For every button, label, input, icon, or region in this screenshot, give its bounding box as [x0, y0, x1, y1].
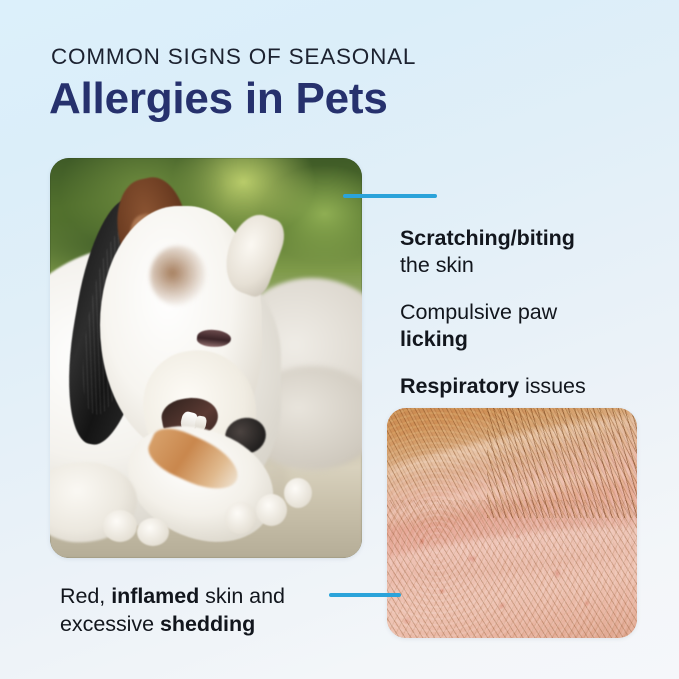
symptom-line-secondary: the skin	[400, 252, 648, 279]
poster-kicker: COMMON SIGNS OF SEASONAL	[51, 44, 416, 70]
dog-biting-paw-photo	[50, 158, 362, 558]
page-title: Allergies in Pets	[49, 74, 388, 124]
caption-line-1: Red, inflamed skin and	[60, 583, 360, 611]
symptoms-list: Scratching/biting the skin Compulsive pa…	[400, 225, 648, 400]
infographic-poster: COMMON SIGNS OF SEASONAL Allergies in Pe…	[0, 0, 679, 679]
skin-texture-overlay	[387, 408, 637, 638]
dog-toe	[137, 518, 168, 546]
symptom-item-paw-licking: Compulsive paw licking	[400, 299, 648, 353]
dog-toe	[284, 478, 312, 508]
caption-emphasis-inflamed: inflamed	[111, 584, 199, 608]
symptom-line-primary: Respiratory issues	[400, 373, 648, 400]
symptom-line-secondary: licking	[400, 326, 648, 353]
caption-text-a: Red,	[60, 584, 111, 608]
dog-head-brown-patch	[150, 246, 206, 306]
caption-text-c: excessive	[60, 612, 160, 636]
inflamed-skin-photo	[387, 408, 637, 638]
connector-line-symptoms	[343, 194, 437, 198]
symptom-line-primary: Scratching/biting	[400, 225, 648, 252]
symptom-item-scratching: Scratching/biting the skin	[400, 225, 648, 279]
dog-toe	[103, 510, 137, 542]
symptom-item-respiratory: Respiratory issues	[400, 373, 648, 400]
symptom-rest: issues	[519, 374, 586, 398]
symptom-emphasis: Respiratory	[400, 374, 519, 398]
symptom-line-primary: Compulsive paw	[400, 299, 648, 326]
caption-line-2: excessive shedding	[60, 611, 360, 639]
dog-toe	[256, 494, 287, 526]
caption-text-b: skin and	[199, 584, 285, 608]
skin-caption: Red, inflamed skin and excessive sheddin…	[60, 583, 360, 639]
dog-toe	[225, 502, 256, 534]
caption-emphasis-shedding: shedding	[160, 612, 255, 636]
